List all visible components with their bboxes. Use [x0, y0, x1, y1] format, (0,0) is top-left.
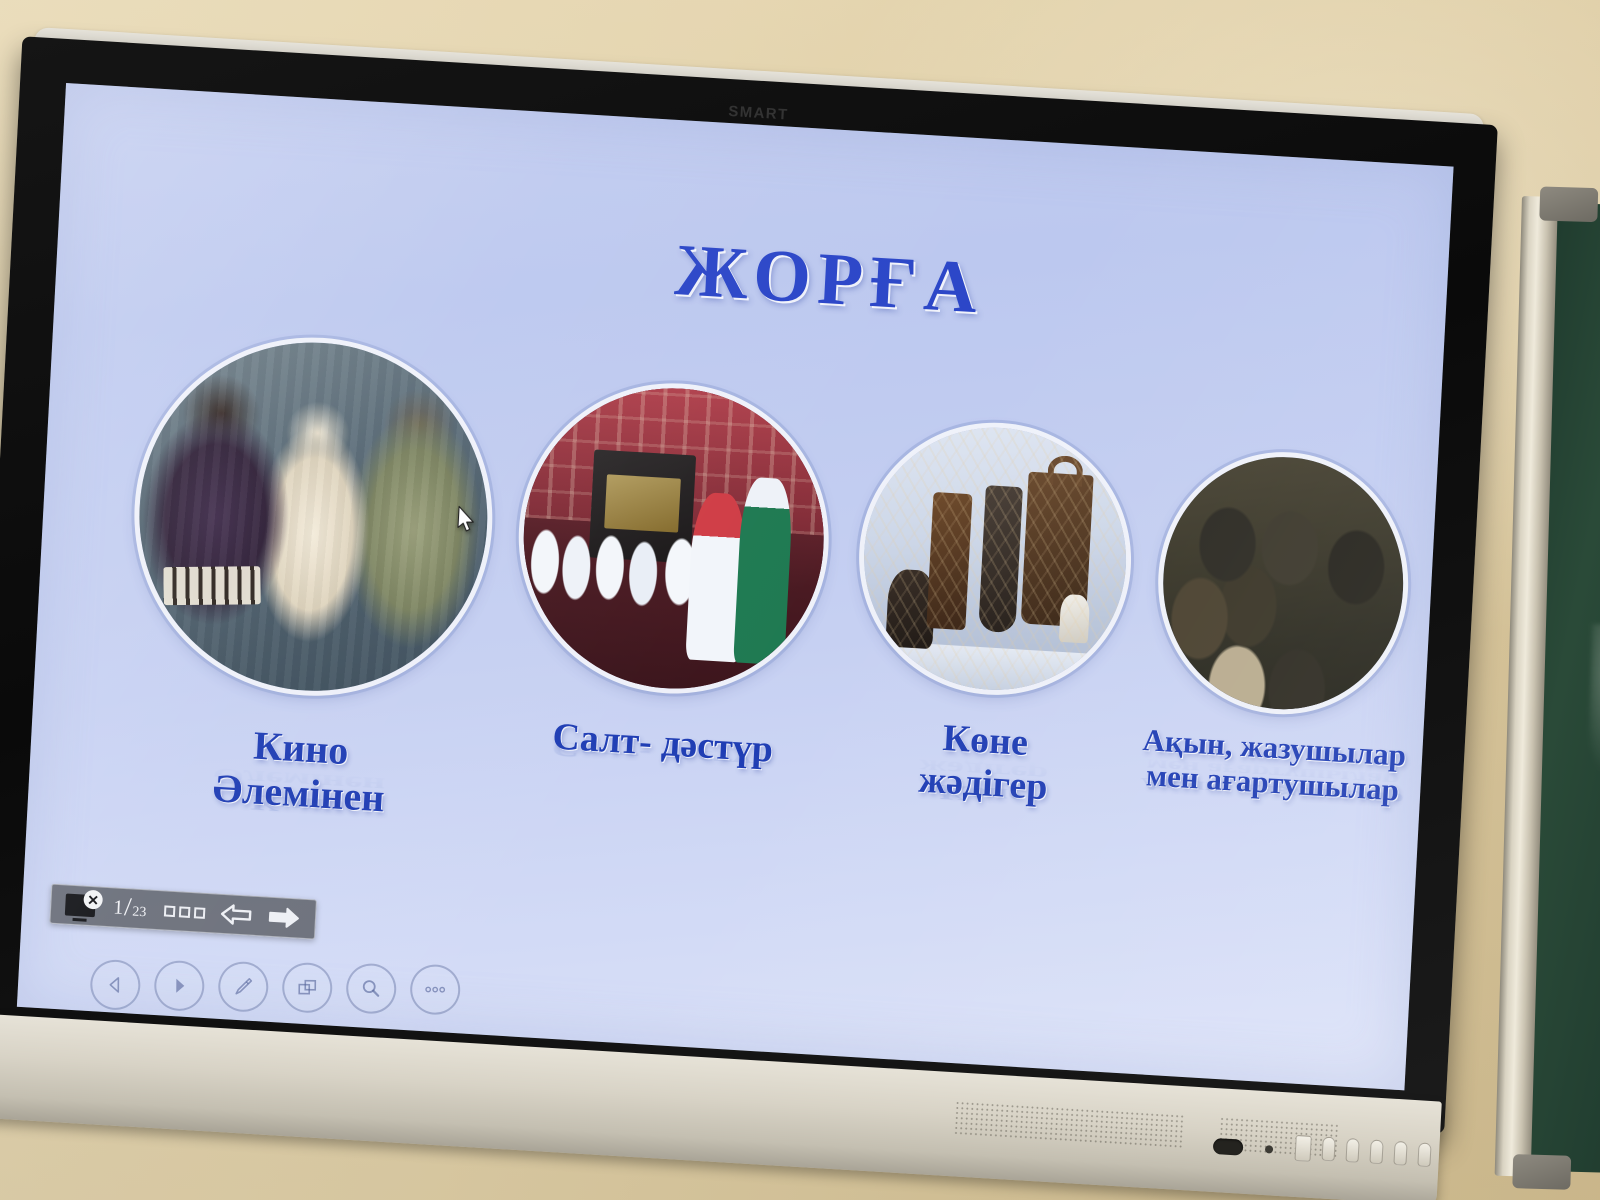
chalkboard-bracket-top: [1539, 187, 1598, 223]
topic-circles-row: Кино Әлемінен Кино Әлемінен С: [121, 318, 1382, 822]
chalkboard: [1495, 196, 1600, 1179]
classroom-scene: SMART ЖОРҒА Кино Әлемінен Кино Әлемінен: [0, 0, 1600, 1200]
end-show-button[interactable]: ✕: [65, 893, 96, 917]
topic-node-kino[interactable]: Кино Әлемінен Кино Әлемінен: [113, 332, 502, 917]
bezel-button-input[interactable]: [1294, 1135, 1311, 1162]
speaker-grille-left: [953, 1100, 1184, 1148]
ellipsis-icon[interactable]: [410, 964, 460, 1015]
tradition-ceremony-photo: [516, 380, 831, 698]
topic-image-kino[interactable]: [130, 332, 496, 700]
topic-node-salt-dastur[interactable]: Салт- дәстүр Салт- дәстүр: [501, 379, 841, 818]
triangle-left-icon[interactable]: [90, 959, 140, 1010]
pen-icon[interactable]: [218, 961, 268, 1012]
display-screen[interactable]: ЖОРҒА Кино Әлемінен Кино Әлемінен: [17, 83, 1454, 1090]
bezel-button-volume-down[interactable]: [1345, 1138, 1359, 1163]
copy-windows-icon[interactable]: [282, 962, 332, 1013]
bezel-button-row[interactable]: [1294, 1135, 1431, 1169]
three-squares-icon[interactable]: [164, 905, 206, 918]
smart-ink-toolbar[interactable]: [90, 959, 460, 1014]
topic-image-salt-dastur[interactable]: [516, 380, 831, 698]
arrow-left-icon[interactable]: [219, 902, 254, 928]
slide-counter: 1 / 23: [109, 896, 151, 921]
museum-artifacts-photo: [857, 420, 1132, 697]
mouse-cursor: [456, 505, 477, 534]
bezel-button-freeze[interactable]: [1393, 1141, 1407, 1166]
close-icon[interactable]: ✕: [83, 890, 103, 910]
chalkboard-bracket-bottom: [1512, 1154, 1571, 1190]
bezel-button-menu[interactable]: [1322, 1137, 1336, 1162]
chalk-marks: [1588, 624, 1600, 775]
slide-current: 1: [113, 896, 124, 920]
magnifier-icon[interactable]: [346, 963, 396, 1014]
topic-node-aqyn-jazushylar[interactable]: Ақын, жазушылар мен ағартушылар Ақын, жа…: [1118, 448, 1439, 879]
writers-group-portrait: [1157, 450, 1410, 716]
bezel-button-power[interactable]: [1417, 1142, 1431, 1167]
triangle-right-icon[interactable]: [154, 960, 204, 1011]
bezel-button-volume-up[interactable]: [1369, 1139, 1383, 1164]
topic-image-kone-jadiger[interactable]: [857, 420, 1132, 697]
smart-interactive-display[interactable]: SMART ЖОРҒА Кино Әлемінен Кино Әлемінен: [0, 8, 1505, 1200]
topic-image-aqyn-jazushylar[interactable]: [1157, 450, 1410, 716]
film-scene-photo: [130, 332, 496, 700]
slide-separator: /: [124, 897, 132, 918]
slide-total: 23: [132, 904, 147, 921]
arrow-right-icon[interactable]: [267, 905, 302, 931]
ir-sensor: [1213, 1138, 1244, 1156]
topic-node-kone-jadiger[interactable]: Көне жәдігер Көне жәдігер: [833, 419, 1147, 899]
